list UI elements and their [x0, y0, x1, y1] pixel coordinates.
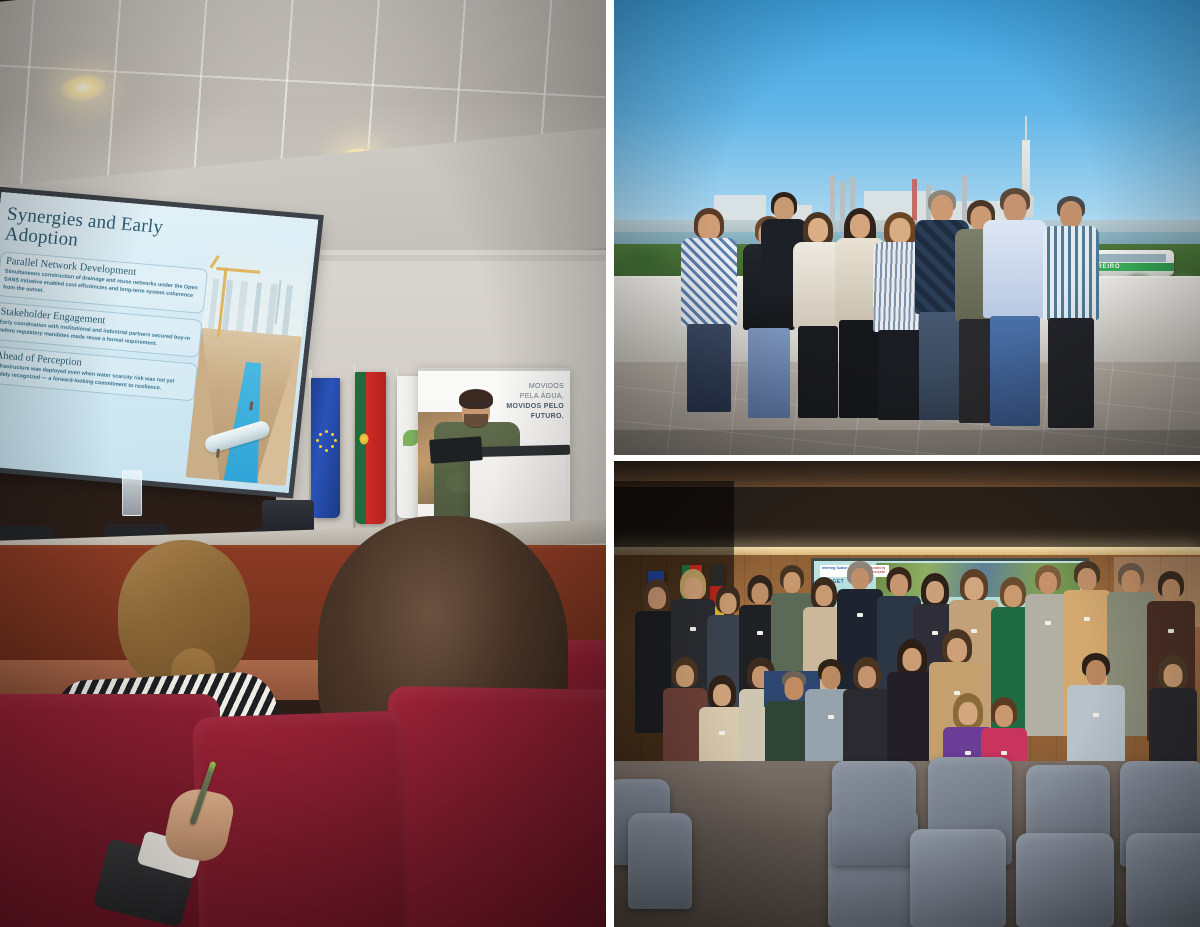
flag-portugal: [355, 372, 386, 524]
collage-divider-horizontal: [614, 455, 1200, 461]
terrace-shadow: [614, 430, 1200, 455]
banner-slogan-line-4: FUTURO.: [531, 413, 564, 420]
auditorium-seat: [910, 829, 1006, 927]
portugal-crest-icon: [360, 433, 369, 444]
wall-ridge: [276, 255, 606, 261]
auditorium-seat: [628, 813, 692, 909]
banner-slogan-line-1: MOVIDOS: [484, 382, 564, 392]
auditorium-seat: [832, 761, 916, 865]
person: [680, 208, 738, 423]
organisation-logo-icon: [403, 430, 419, 446]
banner-slogan-line-3: MOVIDOS PELO: [506, 403, 564, 410]
flag-european-union: [311, 378, 340, 518]
banner-slogan-line-2: PELA ÁGUA,: [484, 392, 564, 402]
laptop-icon: [429, 436, 483, 464]
eu-stars-icon: [314, 430, 338, 454]
photo-rooftop-group: BARREIRO: [614, 0, 1200, 455]
banner-slogan: MOVIDOS PELA ÁGUA, MOVIDOS PELO FUTURO.: [484, 382, 564, 423]
water-glass: [122, 470, 142, 516]
banner-top-rail: [418, 368, 570, 371]
collage-divider-vertical: [606, 0, 614, 927]
glasses-icon: [463, 404, 489, 411]
person: [1042, 196, 1100, 432]
auditorium-seat: [1126, 833, 1200, 927]
auditorium-seat: [1016, 833, 1114, 927]
photo-auditorium-presentation: Synergies and Early Adoption Parallel Ne…: [0, 0, 606, 927]
projection-screen: Synergies and Early Adoption Parallel Ne…: [0, 192, 318, 493]
speaker-beard: [464, 414, 488, 428]
photo-auditorium-group: Interreg Sudoe Co-funded by the European…: [614, 461, 1200, 927]
person: [982, 188, 1048, 432]
audience-seat: [384, 686, 606, 927]
photo-collage: Synergies and Early Adoption Parallel Ne…: [0, 0, 1200, 927]
